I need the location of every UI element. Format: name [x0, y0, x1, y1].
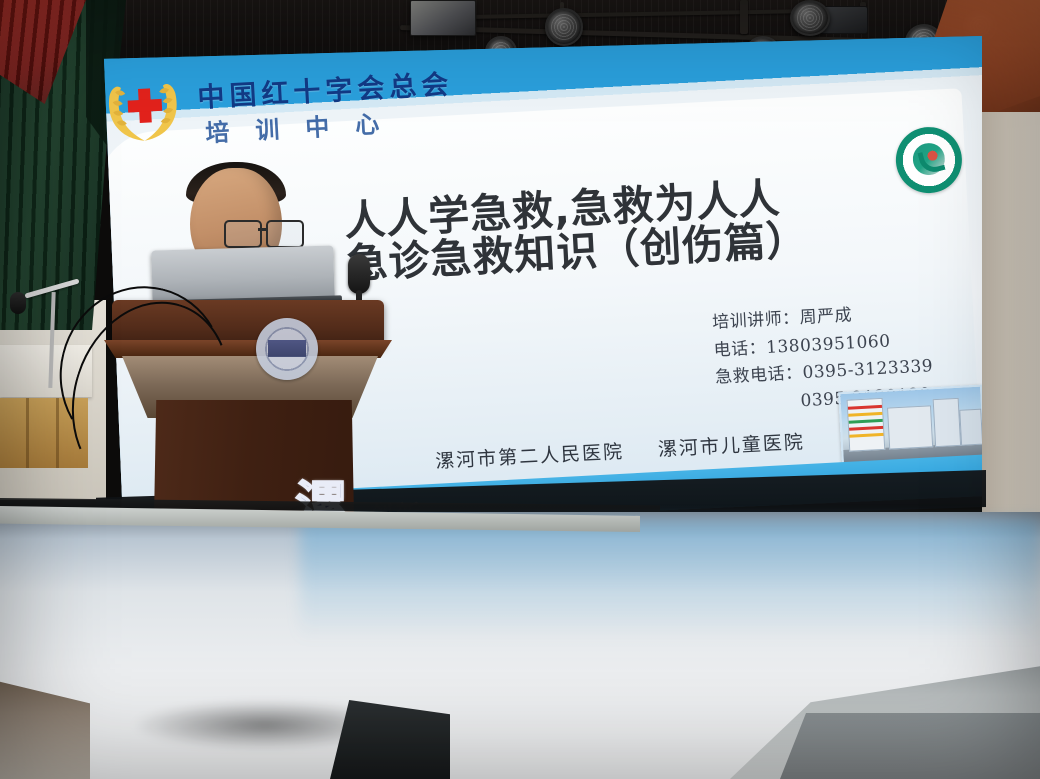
- hospital-name-second: 漯河市儿童医院: [657, 431, 805, 461]
- floor-speaker-box: [330, 700, 450, 779]
- photo-building: [887, 405, 933, 449]
- right-wall: [982, 112, 1040, 542]
- hospital-circular-logo: [894, 125, 963, 194]
- truss-bar: [740, 0, 748, 34]
- floor-reflection: [300, 520, 1040, 640]
- glasses-bridge: [258, 228, 268, 231]
- photo-building: [959, 409, 983, 446]
- slide-title: 人人学急救,急救为人人 急诊急救知识（创伤篇）: [343, 173, 857, 287]
- stage-step-face: [780, 713, 1040, 779]
- glasses-icon: [266, 220, 304, 248]
- stage-par-light-icon: [545, 8, 583, 46]
- stage-spotlight-box: [410, 0, 476, 36]
- school-crest-icon: [256, 318, 318, 380]
- stage-par-light-icon: [790, 0, 830, 36]
- instructor-name: 培训讲师：周严成: [712, 305, 853, 332]
- red-cross-icon: [127, 88, 163, 124]
- instructor-phone: 电话：13803951060: [713, 331, 891, 360]
- red-cross-wheat-emblem: [98, 73, 188, 149]
- microphone-icon: [348, 254, 370, 294]
- photo-building: [933, 398, 962, 447]
- microphone-icon: [10, 292, 26, 314]
- hospital-name-first: 漯河市第二人民医院: [435, 441, 625, 473]
- photo-building: [847, 398, 886, 452]
- stage-scene: 中国红十字会总会 培训中心 人人学急救,急救为人人 急诊急救知识（创伤篇） 培训…: [0, 0, 1040, 779]
- glasses-icon: [224, 220, 262, 248]
